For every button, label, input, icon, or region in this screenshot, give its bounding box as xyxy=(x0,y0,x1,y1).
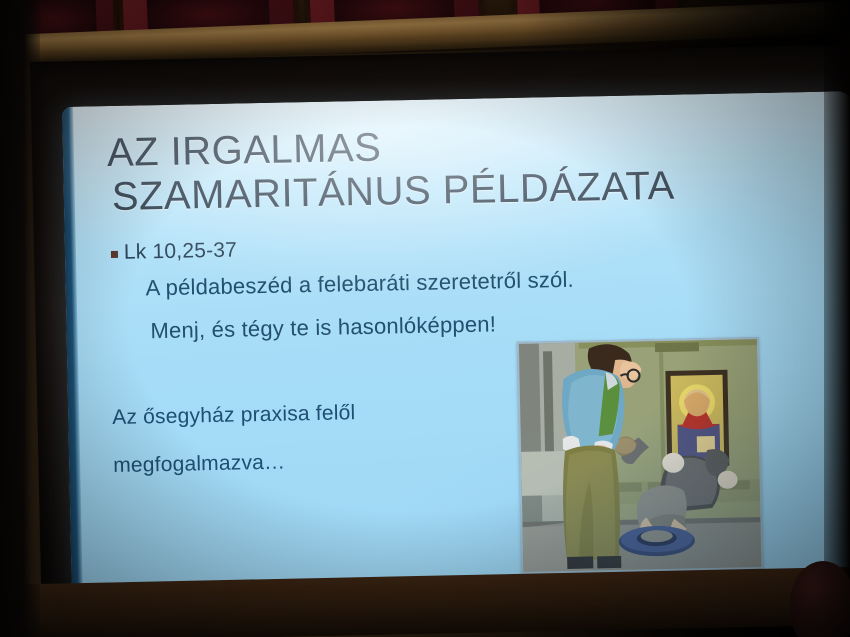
lower-line-1: Az ősegyház praxisa felől xyxy=(112,401,356,430)
good-samaritan-illustration xyxy=(517,337,764,574)
body-line-2: Menj, és tégy te is hasonlóképpen! xyxy=(150,311,496,344)
audience-head-silhouette xyxy=(790,561,850,637)
projected-slide-photo: AZ IRGALMAS SZAMARITÁNUS PÉLDÁZATA Lk 10… xyxy=(0,0,850,637)
slide-content: AZ IRGALMAS SZAMARITÁNUS PÉLDÁZATA Lk 10… xyxy=(62,91,850,599)
scripture-reference-text: Lk 10,25-37 xyxy=(124,239,238,265)
left-dark-edge xyxy=(0,0,40,637)
body-line-1: A példabeszéd a felebaráti szeretetről s… xyxy=(145,267,574,302)
right-dark-edge xyxy=(824,0,850,637)
lower-line-2: megfogalmazva… xyxy=(113,451,285,478)
slide-title: AZ IRGALMAS SZAMARITÁNUS PÉLDÁZATA xyxy=(107,117,849,219)
presentation-slide: AZ IRGALMAS SZAMARITÁNUS PÉLDÁZATA Lk 10… xyxy=(62,91,850,599)
illustration-artwork xyxy=(519,339,762,572)
scripture-reference-bullet: Lk 10,25-37 xyxy=(111,239,238,266)
square-bullet-icon xyxy=(111,251,118,258)
